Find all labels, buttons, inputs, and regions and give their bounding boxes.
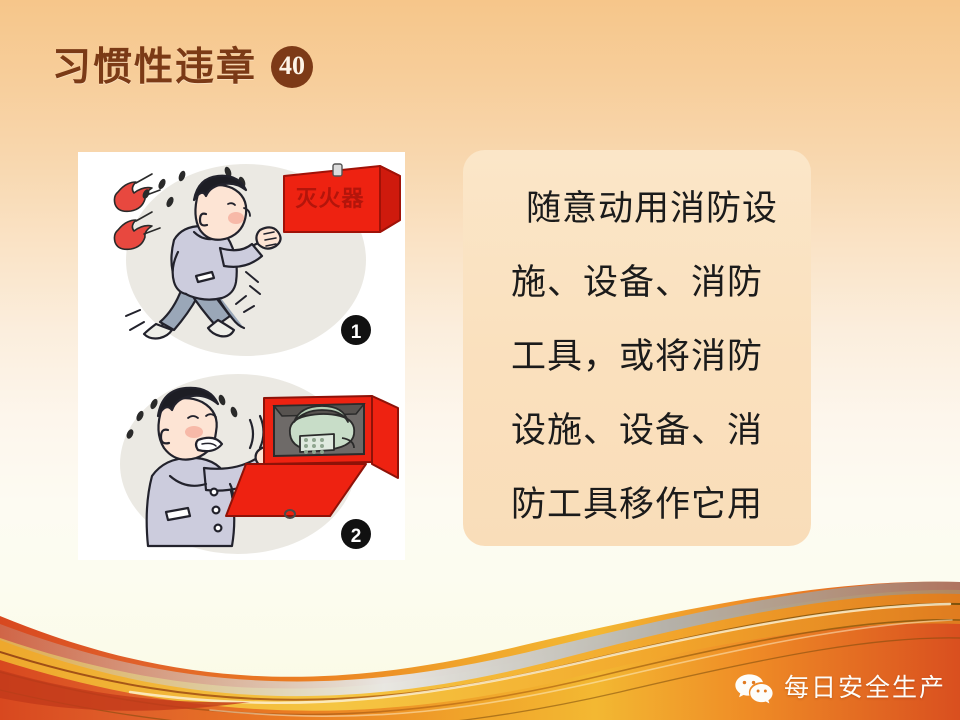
svg-text:2: 2 [351, 526, 362, 547]
cartoon-panel-1: 灭火器 1 [78, 152, 405, 364]
slide-canvas: 习惯性违章 40 [0, 0, 960, 720]
caption-line: 设施、设备、消 [483, 394, 791, 468]
fire-extinguisher-cabinet-icon: 灭火器 [284, 164, 400, 232]
slide-title-row: 习惯性违章 40 [52, 46, 313, 88]
wechat-icon [734, 672, 774, 704]
cartoon-panel-2: 2 [78, 364, 405, 560]
caption-line: 施、设备、消防 [483, 246, 791, 320]
caption-line: 防工具移作它用 [483, 468, 791, 542]
footer-account-name: 每日安全生产 [784, 676, 946, 701]
caption-panel: 随意动用消防设 施、设备、消防 工具，或将消防 设施、设备、消 防工具移作它用 [463, 150, 811, 546]
caption-line: 随意动用消防设 [483, 172, 791, 246]
footer-watermark: 每日安全生产 [734, 672, 946, 704]
illustration-panel: 灭火器 1 [78, 152, 405, 560]
svg-text:1: 1 [351, 322, 362, 343]
panel-number-2: 2 [341, 519, 371, 549]
status-badge: 40 [271, 46, 313, 88]
page-title: 习惯性违章 [52, 48, 257, 87]
cabinet-label: 灭火器 [295, 186, 364, 211]
panel-number-1: 1 [341, 315, 371, 345]
caption-line: 工具，或将消防 [483, 320, 791, 394]
swoosh-accent-left [0, 670, 250, 711]
